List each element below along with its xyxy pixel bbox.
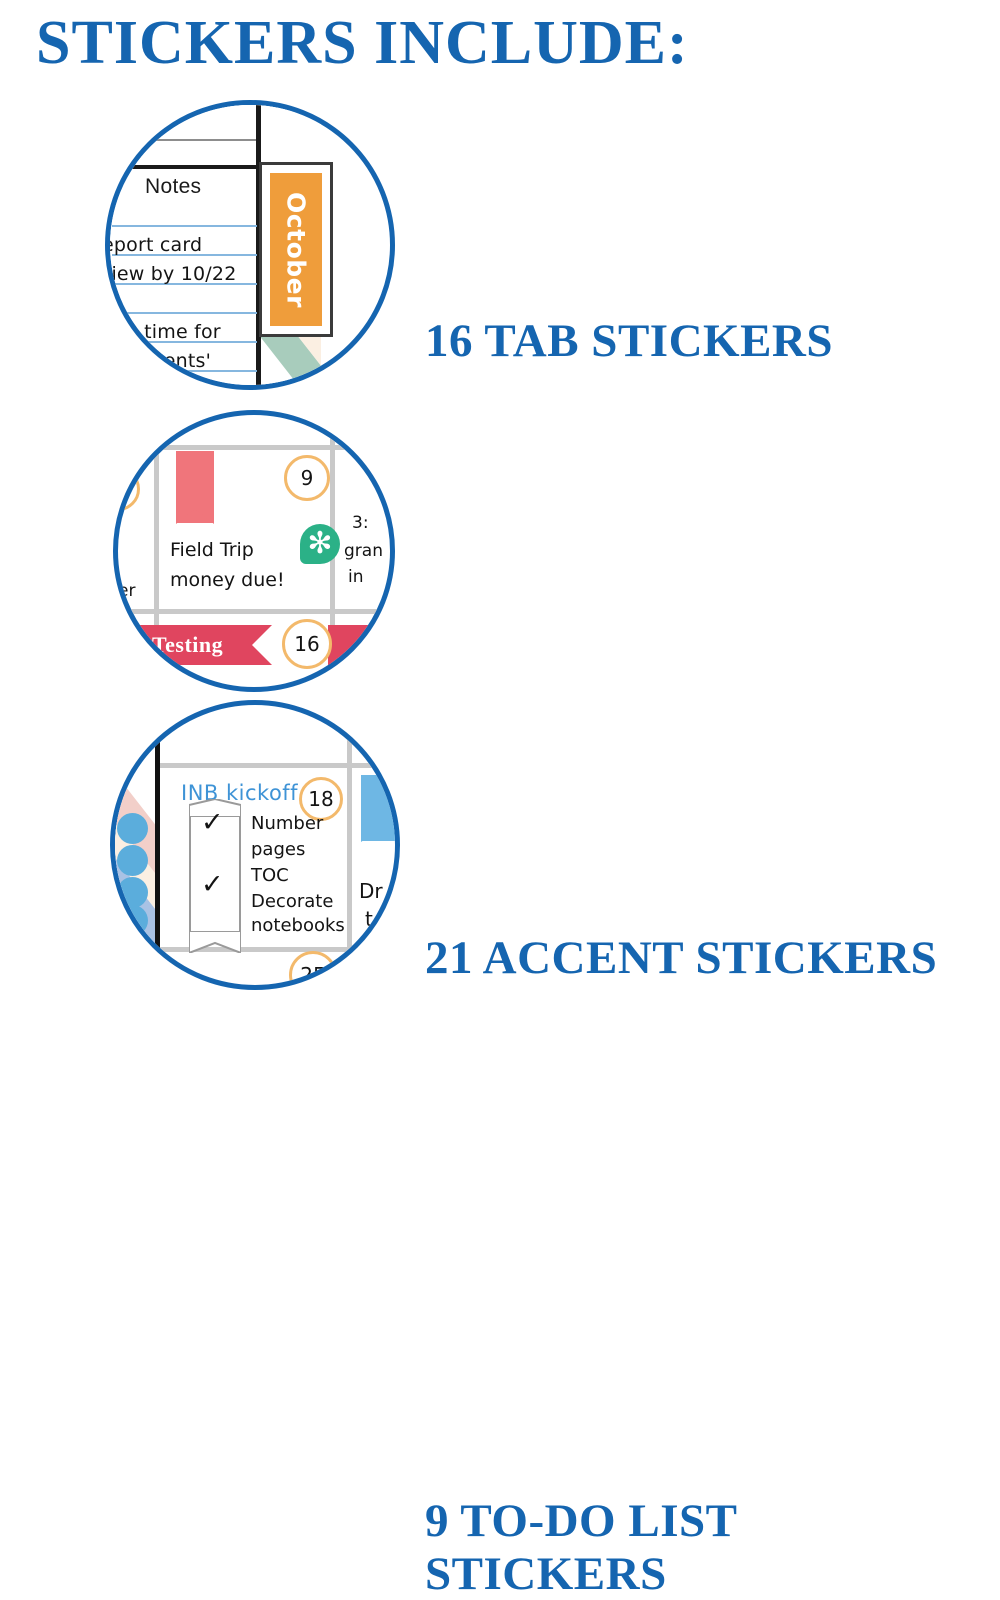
calendar-week-scene: 8 9 ✻ Field Trip money due! 3: gran in e…	[113, 410, 395, 692]
edge-text: t	[365, 907, 373, 931]
date-circle: 16	[282, 619, 332, 669]
edge-text: gran	[344, 541, 383, 561]
notes-page-scene: Notes eport card view by 10/22 irm time …	[105, 100, 395, 390]
todo-item-text: pages	[251, 839, 305, 860]
feature-row-tab-stickers: Notes eport card view by 10/22 irm time …	[0, 100, 1000, 400]
planner-gridline-vertical	[347, 700, 352, 990]
planner-gridline-horizontal	[160, 763, 400, 768]
todo-item-text: Decorate	[251, 891, 333, 912]
check-mark-icon: ✓	[201, 809, 224, 836]
accent-flag-sticker	[176, 451, 214, 523]
todo-checkbox[interactable]	[117, 845, 148, 876]
feature-row-todo-stickers: INB kickoff 18 25	[0, 700, 1000, 1000]
feature-label-tab-stickers: 16 TAB STICKERS	[425, 315, 833, 368]
todo-checkbox[interactable]	[117, 905, 148, 936]
infographic-page: STICKERS INCLUDE: Notes eport card view …	[0, 0, 1000, 1000]
calendar-gridline-horizontal	[113, 445, 395, 450]
notes-rule	[112, 312, 257, 314]
handwritten-note-line: irm time for	[106, 321, 221, 343]
handwritten-note-line: erence	[138, 379, 204, 390]
check-mark-icon: ✓	[201, 871, 224, 898]
date-circle: 9	[284, 455, 330, 501]
month-tab-label: October	[282, 192, 311, 308]
notes-rule	[112, 225, 257, 227]
todo-sticker-bottom-notch	[189, 931, 241, 953]
todo-checkbox[interactable]	[117, 877, 148, 908]
calendar-gridline-horizontal	[113, 609, 395, 614]
tab-stickers-photo: Notes eport card view by 10/22 irm time …	[105, 100, 395, 390]
month-tab-face: October	[267, 170, 325, 329]
date-circle: 25	[289, 951, 337, 990]
testing-banner-label: Testing	[152, 632, 223, 658]
edge-text: Dr	[359, 879, 383, 903]
asterisk-pin-sticker: ✻	[300, 524, 340, 564]
todo-item-text: notebooks	[251, 915, 345, 936]
month-tab-sticker: October	[259, 162, 333, 337]
todo-list-stickers-photo: INB kickoff 18 25	[110, 700, 400, 990]
todo-item-text: TOC	[251, 865, 289, 886]
page-title: STICKERS INCLUDE:	[36, 8, 689, 79]
handwritten-event-line: money due!	[170, 569, 285, 591]
handwritten-note-line: eport card	[105, 234, 202, 256]
handwritten-note-line: parents'	[132, 350, 211, 372]
todo-item-text: Number	[251, 813, 323, 834]
edge-text: in	[348, 567, 364, 587]
date-circle-partial: 8	[113, 467, 140, 511]
testing-banner-sticker-partial	[328, 625, 368, 665]
edge-text: 3:	[352, 513, 369, 533]
blue-flag-sticker	[361, 775, 400, 841]
notch-shape-icon	[189, 931, 241, 953]
testing-banner-sticker: Testing	[122, 625, 252, 665]
feature-label-todo-stickers: 9 TO-DO LIST STICKERS	[425, 1495, 738, 1600]
notes-heading: Notes	[145, 175, 201, 199]
accent-stickers-photo: 8 9 ✻ Field Trip money due! 3: gran in e…	[113, 410, 395, 692]
handwritten-event-line: Field Trip	[170, 539, 254, 561]
feature-row-accent-stickers: 8 9 ✻ Field Trip money due! 3: gran in e…	[0, 410, 1000, 700]
handwritten-note-line: view by 10/22	[105, 263, 237, 285]
todo-checkbox[interactable]	[117, 813, 148, 844]
planner-day-scene: INB kickoff 18 25	[110, 700, 400, 990]
edge-text: er	[118, 581, 135, 601]
